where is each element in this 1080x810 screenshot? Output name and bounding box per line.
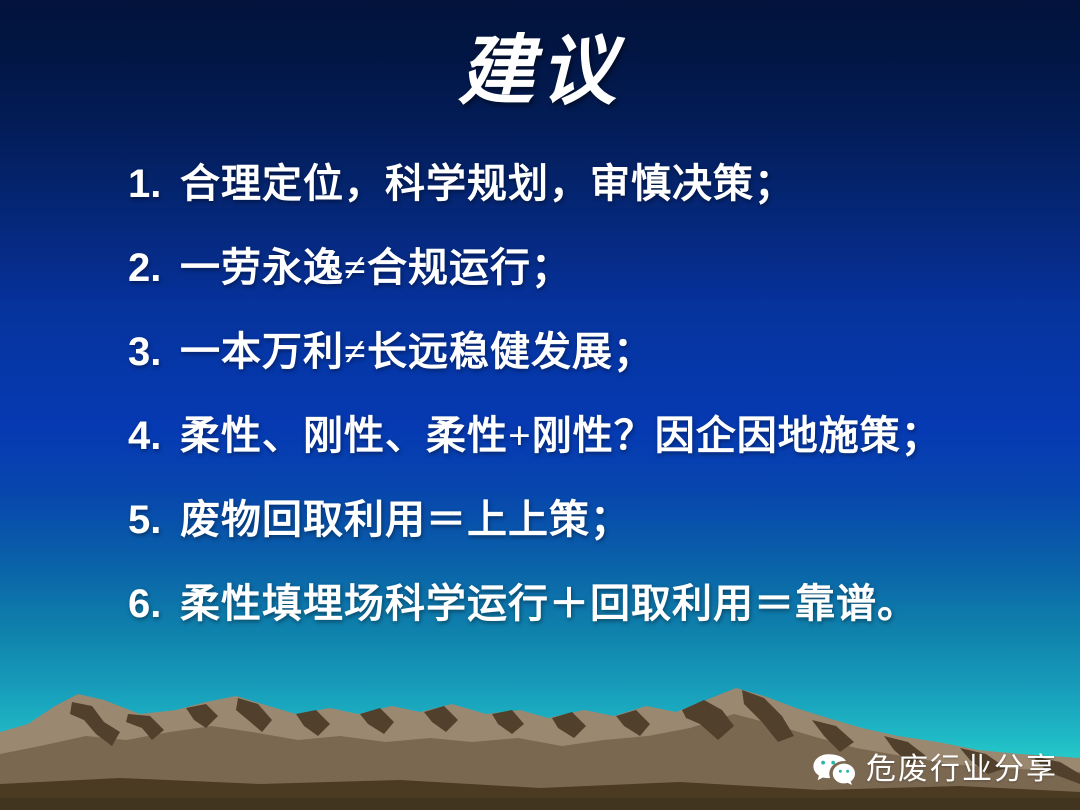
list-item: 6. 柔性填埋场科学运行＋回取利用＝靠谱。 [128,580,1058,628]
list-item-number: 2. [128,244,180,292]
watermark: 危废行业分享 [812,752,1058,788]
list-item-text: 一劳永逸≠合规运行； [180,244,572,292]
watermark-label: 危废行业分享 [866,753,1058,787]
list-item-text: 合理定位，科学规划，审慎决策； [180,160,795,208]
page-title: 建议 [0,30,1080,114]
list-item-text: 废物回取利用＝上上策； [180,496,631,544]
list-item: 4. 柔性、刚性、柔性+刚性？因企因地施策； [128,412,1058,460]
list-item-number: 6. [128,580,180,628]
list-item-number: 1. [128,160,180,208]
suggestion-list: 1. 合理定位，科学规划，审慎决策； 2. 一劳永逸≠合规运行； 3. 一本万利… [128,160,1058,628]
list-item: 1. 合理定位，科学规划，审慎决策； [128,160,1058,208]
wechat-icon [812,752,856,788]
presentation-slide: 建议 1. 合理定位，科学规划，审慎决策； 2. 一劳永逸≠合规运行； 3. 一… [0,0,1080,810]
list-item-number: 4. [128,412,180,460]
mountain-range-illustration [0,680,1080,810]
list-item: 3. 一本万利≠长远稳健发展； [128,328,1058,376]
list-item-text: 柔性、刚性、柔性+刚性？因企因地施策； [180,412,942,460]
list-item-text: 一本万利≠长远稳健发展； [180,328,654,376]
list-item: 2. 一劳永逸≠合规运行； [128,244,1058,292]
list-item-number: 5. [128,496,180,544]
list-item-number: 3. [128,328,180,376]
list-item: 5. 废物回取利用＝上上策； [128,496,1058,544]
list-item-text: 柔性填埋场科学运行＋回取利用＝靠谱。 [180,580,918,628]
mountain-bottom-fill [0,798,1080,810]
